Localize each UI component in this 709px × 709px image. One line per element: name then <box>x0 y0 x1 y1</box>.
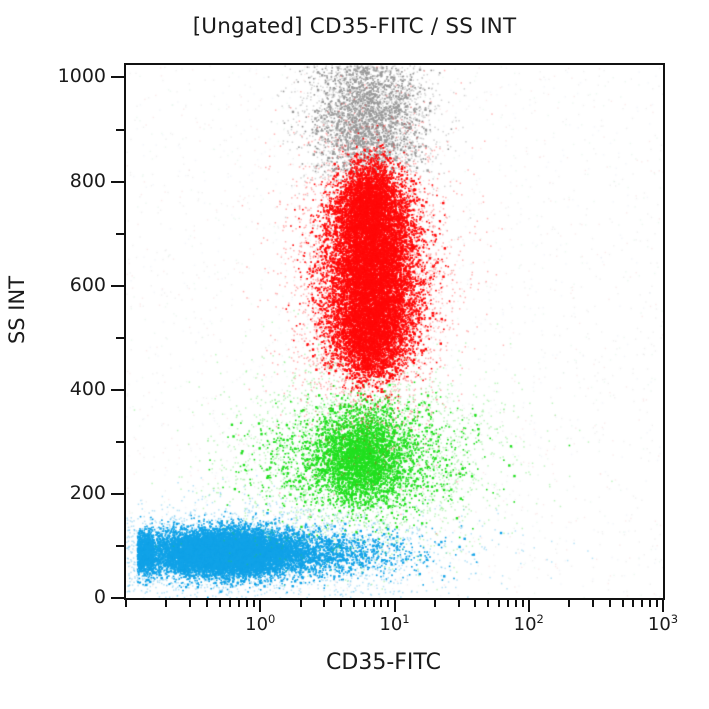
x-axis-tick <box>592 600 594 607</box>
x-axis-tick-label: 101 <box>379 614 409 635</box>
y-axis-tick <box>116 337 124 339</box>
y-axis-tick <box>111 181 124 183</box>
x-axis-label: CD35-FITC <box>0 650 709 675</box>
x-axis-tick-label: 103 <box>648 614 678 635</box>
y-axis-tick <box>111 285 124 287</box>
x-axis-tick <box>238 600 240 607</box>
x-axis-tick <box>458 600 460 607</box>
x-axis-tick <box>206 600 208 607</box>
y-axis-tick-label: 0 <box>46 586 106 608</box>
x-axis-tick <box>487 600 489 607</box>
x-axis-tick <box>253 600 255 607</box>
chart-title: [Ungated] CD35-FITC / SS INT <box>0 14 709 39</box>
y-axis-tick-label: 200 <box>46 482 106 504</box>
x-axis-tick <box>662 600 664 612</box>
x-axis-tick <box>353 600 355 607</box>
x-axis-tick <box>568 600 570 607</box>
x-axis-tick <box>656 600 658 607</box>
y-axis-tick <box>111 76 124 78</box>
y-axis-tick <box>111 389 124 391</box>
x-axis-tick <box>364 600 366 607</box>
x-axis-tick-label: 100 <box>245 614 275 635</box>
x-axis-tick <box>340 600 342 607</box>
x-axis-tick <box>522 600 524 607</box>
x-axis-tick <box>165 600 167 607</box>
x-axis-tick <box>394 600 396 612</box>
y-axis-tick <box>111 493 124 495</box>
x-axis-tick <box>246 600 248 607</box>
x-axis-tick <box>259 600 261 612</box>
y-axis-tick <box>111 597 124 599</box>
scatter-canvas <box>126 65 663 598</box>
x-axis-tick <box>387 600 389 607</box>
x-axis-tick <box>632 600 634 607</box>
x-axis-tick <box>498 600 500 607</box>
x-axis-tick <box>434 600 436 607</box>
x-axis-tick <box>609 600 611 607</box>
y-axis-tick <box>116 233 124 235</box>
x-axis-tick <box>189 600 191 607</box>
x-axis-tick <box>474 600 476 607</box>
x-axis-tick-label: 102 <box>514 614 544 635</box>
x-axis-tick <box>229 600 231 607</box>
y-axis-tick-label: 600 <box>46 274 106 296</box>
x-axis-tick <box>528 600 530 612</box>
x-axis-tick <box>300 600 302 607</box>
x-axis-tick <box>622 600 624 607</box>
y-axis-tick-label: 1000 <box>46 65 106 87</box>
x-axis-tick <box>125 600 127 607</box>
x-axis-tick <box>515 600 517 607</box>
y-axis-tick <box>116 545 124 547</box>
x-axis-tick <box>649 600 651 607</box>
x-axis-tick <box>641 600 643 607</box>
plot-area <box>124 63 665 600</box>
y-axis-tick <box>116 441 124 443</box>
x-axis-tick <box>380 600 382 607</box>
x-axis-tick <box>507 600 509 607</box>
y-axis-tick-label: 800 <box>46 170 106 192</box>
y-axis-tick <box>116 129 124 131</box>
y-axis-label: SS INT <box>5 230 29 390</box>
x-axis-tick <box>219 600 221 607</box>
flow-cytometry-plot: [Ungated] CD35-FITC / SS INT 02004006008… <box>0 0 709 709</box>
x-axis-tick <box>323 600 325 607</box>
y-axis-tick-label: 400 <box>46 378 106 400</box>
x-axis-tick <box>373 600 375 607</box>
